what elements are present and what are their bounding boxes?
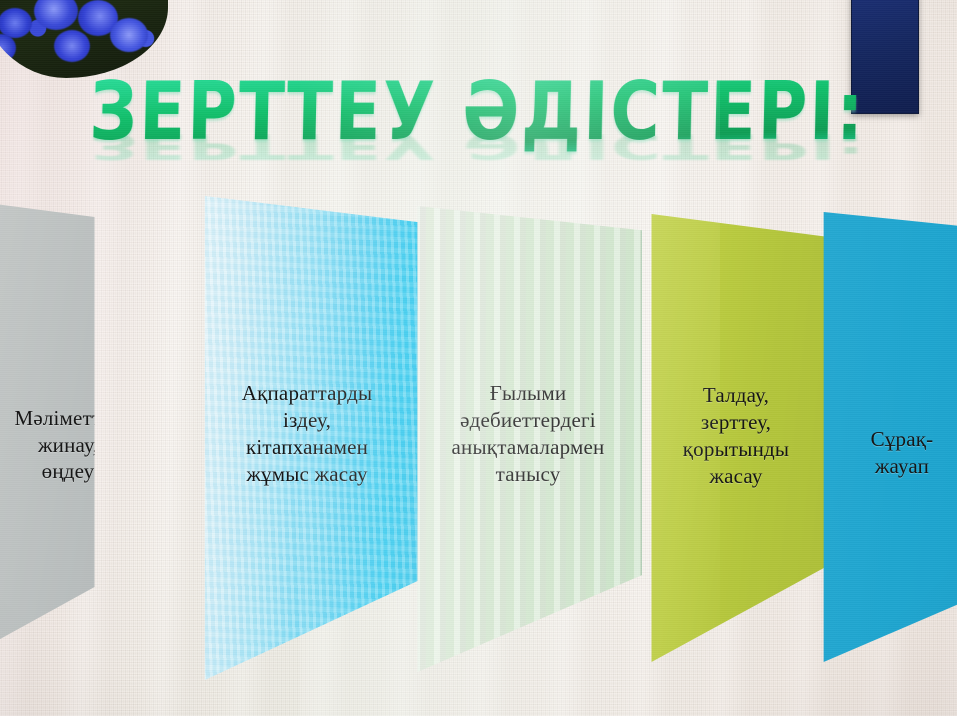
panel-2-label: Ақпараттарды іздеу, кітапханамен жұмыс ж… — [232, 380, 383, 488]
presentation-slide: ЗЕРТТЕУ ӘДІСТЕРІ: ЗЕРТТЕУ ӘДІСТЕРІ: Мәлі… — [0, 0, 957, 716]
method-panel-5[interactable]: Сұрақ- жауап — [818, 212, 957, 662]
method-panel-4[interactable]: Талдау, зерттеу, қорытынды жасау — [648, 214, 824, 662]
method-panels-row: Мәліметтер жинау, өңдеу Ақпараттарды ізд… — [0, 0, 957, 716]
panel-3-label: Ғылыми әдебиеттердегі анықтамалармен тан… — [442, 380, 615, 488]
panel-5-label: Сұрақ- жауап — [861, 426, 944, 480]
method-panel-1[interactable]: Мәліметтер жинау, өңдеу — [0, 192, 204, 692]
panel-4-label: Талдау, зерттеу, қорытынды жасау — [673, 382, 799, 490]
method-panel-3[interactable]: Ғылыми әдебиеттердегі анықтамалармен тан… — [414, 206, 642, 672]
panel-1-label: Мәліметтер жинау, өңдеу — [4, 405, 131, 486]
method-panel-2[interactable]: Ақпараттарды іздеу, кітапханамен жұмыс ж… — [196, 196, 418, 680]
